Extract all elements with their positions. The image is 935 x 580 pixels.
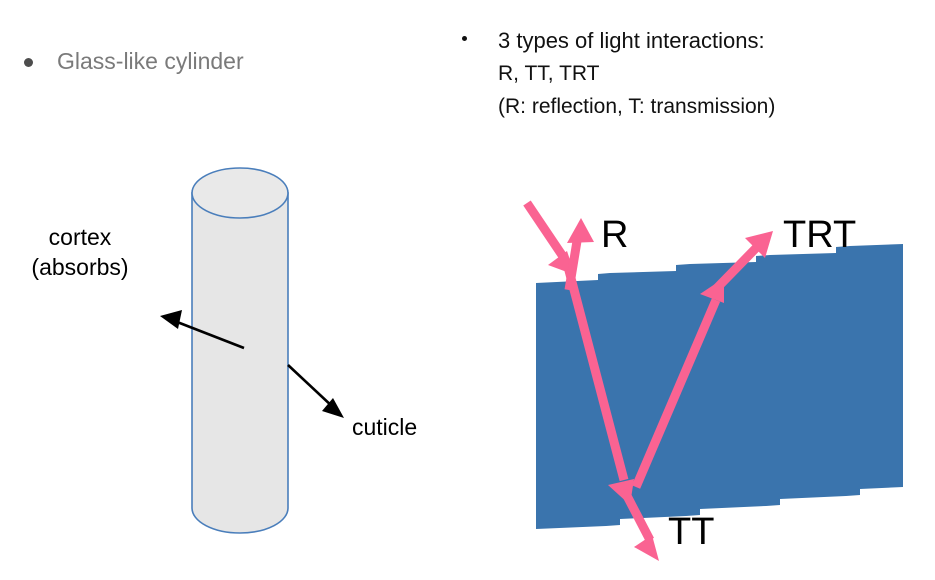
ray-label-tt: TT: [668, 512, 714, 552]
r-ray: [567, 218, 594, 290]
ray-label-r: R: [601, 215, 628, 255]
slide-canvas: Glass-like cylinder 3 types of light int…: [0, 0, 935, 580]
ray-label-trt: TRT: [783, 215, 856, 255]
light-interaction-diagram: [0, 0, 935, 580]
